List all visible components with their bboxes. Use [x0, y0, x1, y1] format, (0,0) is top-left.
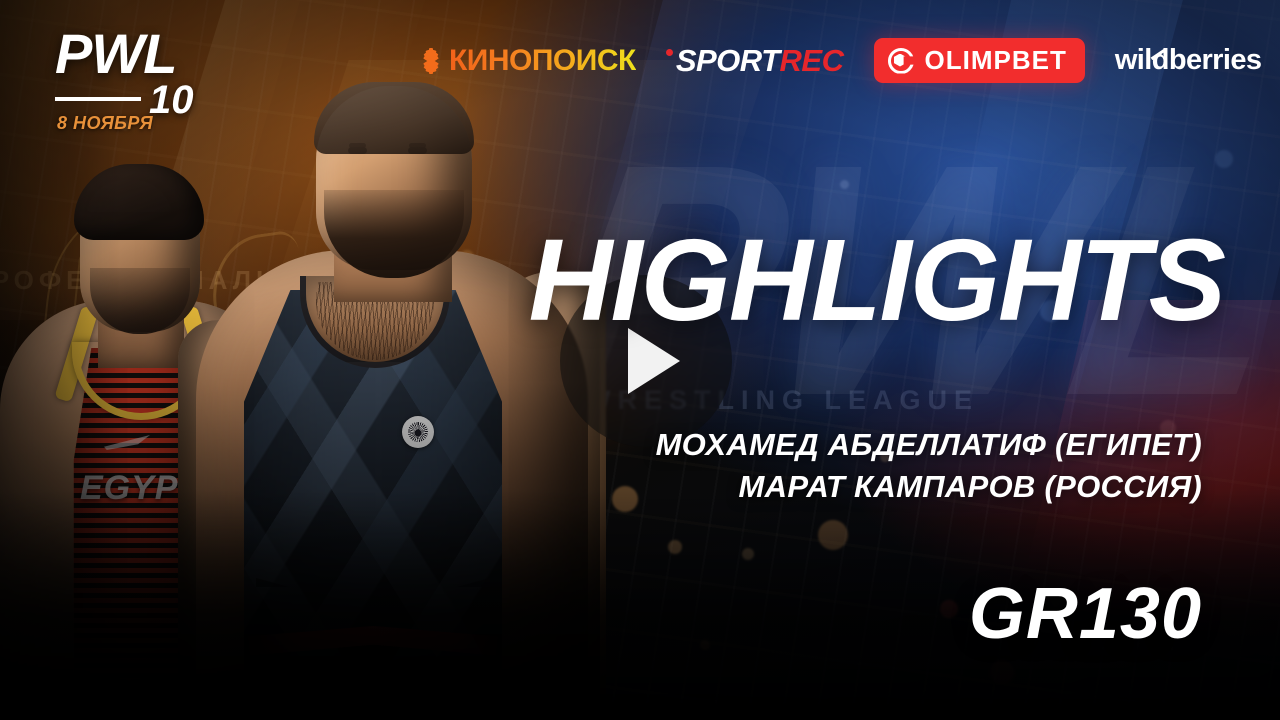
athlete-names: МОХАМЕД АБДЕЛЛАТИФ (ЕГИПЕТ) МАРАТ КАМПАР…	[656, 424, 1202, 508]
pwl-logo-edition: 10	[149, 82, 194, 118]
weight-class-label: GR130	[969, 573, 1202, 655]
sponsor-wildberries[interactable]: wildberries	[1115, 44, 1262, 77]
sportrec-label-primary: SPORT	[676, 43, 780, 79]
athlete-name-2: МАРАТ КАМПАРОВ (РОССИЯ)	[656, 466, 1202, 508]
headline-highlights: HIGHLIGHTS	[529, 222, 1224, 338]
sponsor-bar: КИНОПОИСК SPORT REC OLIMPBET wildberries	[418, 38, 1261, 83]
pwl-logo-brand: PWL	[55, 27, 205, 80]
sponsor-olimpbet[interactable]: OLIMPBET	[874, 38, 1085, 83]
wildberries-label-d: d	[1152, 44, 1169, 77]
athlete-name-1: МОХАМЕД АБДЕЛЛАТИФ (ЕГИПЕТ)	[656, 424, 1202, 466]
pwl-logo-date: 8 НОЯБРЯ	[57, 113, 153, 134]
video-thumbnail: PWL WRESTLING LEAGUE ПРОФЕССИОНАЛЬНАЯ EG…	[0, 0, 1280, 720]
kinopoisk-starburst-icon	[418, 48, 444, 74]
olimpbet-hexagon-icon	[888, 48, 914, 74]
sportrec-dot-icon	[666, 49, 673, 56]
olimpbet-label: OLIMPBET	[925, 45, 1067, 76]
sponsor-kinopoisk[interactable]: КИНОПОИСК	[418, 44, 636, 78]
sportrec-label-secondary: REC	[780, 43, 844, 79]
pwl-logo[interactable]: PWL 10 8 НОЯБРЯ	[55, 27, 205, 118]
wildberries-label-a: wil	[1115, 44, 1152, 76]
wildberries-label-c: berries	[1169, 44, 1262, 76]
kinopoisk-label: КИНОПОИСК	[449, 44, 636, 78]
pwl-logo-rule	[55, 97, 141, 101]
sponsor-sportrec[interactable]: SPORT REC	[666, 43, 844, 79]
